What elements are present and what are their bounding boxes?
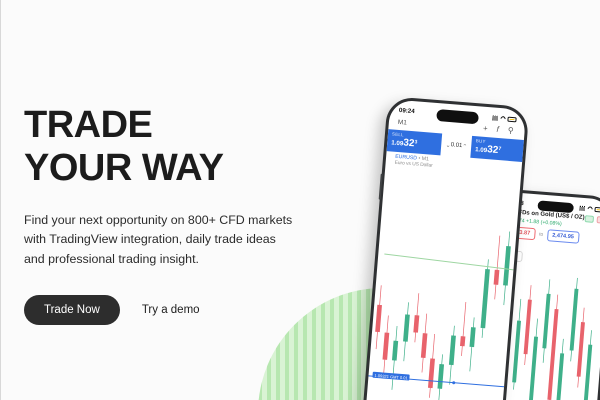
- page-left-edge: [0, 0, 1, 400]
- phone-mockup-primary: 09:24 M1 + f ⚲: [362, 96, 530, 400]
- timeframe-selector[interactable]: M1: [398, 118, 407, 126]
- volume-stepper: ⌄ 0.01 ⌃: [441, 133, 472, 157]
- candle-body: [494, 270, 500, 285]
- candle-body: [577, 322, 585, 377]
- ask-price-box[interactable]: 2,474.95: [547, 229, 580, 244]
- candle-body: [392, 341, 398, 361]
- chart-toolbar: + f ⚲: [483, 125, 514, 135]
- hero-subcopy: Find your next opportunity on 800+ CFD m…: [24, 211, 296, 269]
- candle-body: [527, 337, 538, 400]
- instrument-badges: [584, 215, 600, 224]
- candle-body: [383, 332, 390, 359]
- bid-ask-separator: to: [539, 232, 543, 237]
- buy-badge[interactable]: [596, 216, 600, 224]
- candlestick-series: [365, 177, 520, 400]
- headline-line-1: TRADE: [24, 104, 152, 146]
- symbol-timeframe: M1: [421, 156, 429, 163]
- candle-body: [582, 345, 592, 400]
- sell-price-sup: 3: [414, 139, 417, 145]
- candle-body: [547, 309, 558, 400]
- sell-price-button[interactable]: SELL 1.09323: [387, 129, 443, 155]
- volume-value[interactable]: 0.01: [450, 142, 462, 149]
- candle-body: [428, 358, 435, 388]
- candle-body: [460, 336, 465, 346]
- candle-body: [524, 300, 532, 355]
- candle-body: [554, 353, 564, 400]
- candle-body: [469, 327, 475, 347]
- page-title: TRADE YOUR WAY: [24, 104, 324, 189]
- signal-icon: [579, 206, 585, 211]
- candle-body: [503, 246, 511, 286]
- candle-body: [481, 269, 490, 328]
- search-icon[interactable]: ⚲: [507, 127, 513, 135]
- buy-price-button[interactable]: BUY 1.09327: [470, 136, 526, 162]
- indicators-icon[interactable]: f: [496, 126, 499, 134]
- battery-icon: [594, 207, 600, 212]
- cta-row: Trade Now Try a demo: [24, 295, 324, 325]
- battery-icon: [507, 117, 516, 122]
- candle-wick: [462, 302, 466, 356]
- phone-side-button: [378, 174, 382, 200]
- chevron-up-icon[interactable]: ⌃: [462, 143, 468, 150]
- signal-icon: [492, 116, 498, 121]
- phone-one-candlestick-chart[interactable]: 1.09321 GMT 0.01: [365, 177, 520, 400]
- trade-now-button[interactable]: Trade Now: [24, 295, 120, 325]
- hero-content: TRADE YOUR WAY Find your next opportunit…: [24, 104, 324, 325]
- headline-line-2: YOUR WAY: [24, 147, 324, 190]
- status-time: 09:24: [399, 107, 415, 115]
- buy-price-sup: 7: [498, 146, 501, 152]
- candle-body: [375, 305, 382, 332]
- candle-body: [570, 289, 579, 351]
- candle-body: [403, 314, 410, 341]
- buy-price-big: 32: [487, 144, 499, 156]
- symbol-separator: •: [418, 156, 420, 162]
- crosshair-icon[interactable]: +: [483, 125, 488, 133]
- candle-body: [449, 335, 456, 365]
- sell-price-prefix: 1.09: [391, 139, 404, 147]
- candle-body: [421, 333, 428, 358]
- candle-body: [542, 294, 550, 349]
- candle-body: [512, 321, 521, 383]
- try-a-demo-link[interactable]: Try a demo: [142, 304, 200, 316]
- buy-price-prefix: 1.09: [475, 146, 488, 154]
- phone-one-screen: 09:24 M1 + f ⚲: [365, 99, 527, 400]
- candle-body: [413, 315, 419, 333]
- sell-price-big: 32: [403, 137, 415, 149]
- sell-badge[interactable]: [584, 215, 594, 223]
- landing-page-hero: TRADE YOUR WAY Find your next opportunit…: [0, 0, 600, 400]
- candle-body: [437, 364, 444, 389]
